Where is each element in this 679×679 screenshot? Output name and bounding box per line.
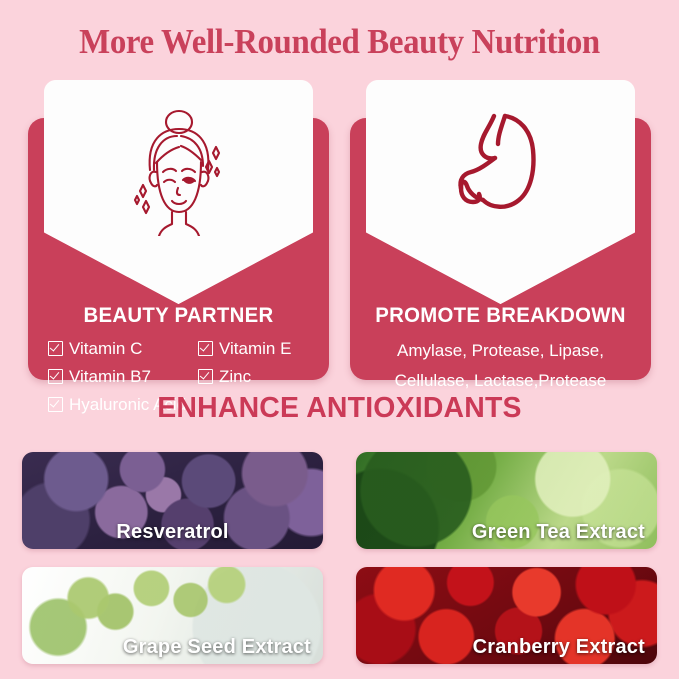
card-heading: PROMOTE BREAKDOWN bbox=[355, 304, 647, 328]
card-beauty-partner: BEAUTY PARTNER Vitamin C Vitamin E Vitam… bbox=[28, 118, 329, 380]
checkbox-icon bbox=[48, 341, 63, 356]
photo-tile-green-tea: Green Tea Extract bbox=[356, 452, 657, 549]
list-item-label: Vitamin B7 bbox=[69, 364, 151, 389]
card-promote-breakdown: PROMOTE BREAKDOWN Amylase, Protease, Lip… bbox=[350, 118, 651, 380]
stomach-icon bbox=[439, 108, 563, 231]
checkbox-icon bbox=[48, 369, 63, 384]
photo-tile-grape-seed: Grape Seed Extract bbox=[22, 567, 323, 664]
photo-label: Green Tea Extract bbox=[472, 521, 645, 544]
list-item-label: Zinc bbox=[219, 364, 251, 389]
section-title: ENHANCE ANTIOXIDANTS bbox=[7, 392, 672, 425]
list-item: Vitamin C bbox=[48, 336, 198, 361]
enzyme-list: Amylase, Protease, Lipase, Cellulase, La… bbox=[350, 336, 651, 396]
list-item: Zinc bbox=[198, 364, 338, 389]
photo-label: Grape Seed Extract bbox=[123, 636, 311, 659]
feature-cards: BEAUTY PARTNER Vitamin C Vitamin E Vitam… bbox=[28, 118, 651, 380]
antioxidant-photo-grid: Resveratrol Green Tea Extract Grape Seed… bbox=[22, 452, 657, 664]
list-item-label: Vitamin C bbox=[69, 336, 142, 361]
woman-face-sparkle-icon bbox=[117, 108, 241, 241]
checkbox-icon bbox=[198, 369, 213, 384]
product-infographic: More Well-Rounded Beauty Nutrition bbox=[0, 0, 679, 679]
list-item: Vitamin E bbox=[198, 336, 338, 361]
list-item: Vitamin B7 bbox=[48, 364, 198, 389]
photo-label: Cranberry Extract bbox=[473, 636, 645, 659]
list-item-label: Vitamin E bbox=[219, 336, 291, 361]
photo-tile-resveratrol: Resveratrol bbox=[22, 452, 323, 549]
photo-label: Resveratrol bbox=[22, 521, 323, 544]
enzyme-line: Amylase, Protease, Lipase, bbox=[364, 336, 637, 366]
checkbox-icon bbox=[198, 341, 213, 356]
card-content: PROMOTE BREAKDOWN Amylase, Protease, Lip… bbox=[350, 304, 651, 396]
page-title: More Well-Rounded Beauty Nutrition bbox=[20, 22, 658, 62]
card-heading: BEAUTY PARTNER bbox=[33, 304, 325, 328]
photo-tile-cranberry: Cranberry Extract bbox=[356, 567, 657, 664]
